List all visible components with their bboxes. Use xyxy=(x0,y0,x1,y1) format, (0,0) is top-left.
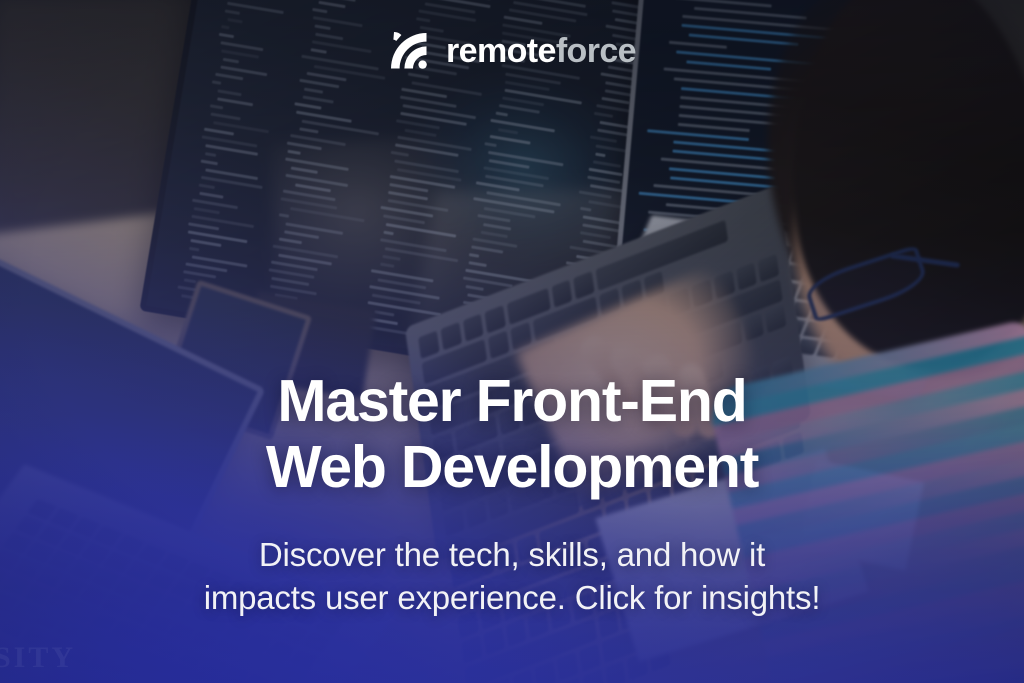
subheadline-line-1: Discover the tech, skills, and how it xyxy=(0,534,1024,577)
headline-line-1: Master Front-End xyxy=(277,368,746,434)
subheadline: Discover the tech, skills, and how it im… xyxy=(0,534,1024,620)
brand-wordmark: remoteforce xyxy=(446,34,636,68)
brand-name-primary: remote xyxy=(446,32,556,70)
brand-logo[interactable]: remoteforce xyxy=(0,30,1024,72)
signal-arcs-icon xyxy=(388,30,432,72)
subheadline-line-2: impacts user experience. Click for insig… xyxy=(0,577,1024,620)
headline: Master Front-End Web Development xyxy=(0,372,1024,497)
brand-name-secondary: force xyxy=(556,32,636,70)
headline-line-2: Web Development xyxy=(0,438,1024,496)
promo-banner: SITY remoteforce Master Front-End Web De… xyxy=(0,0,1024,683)
banner-content: remoteforce Master Front-End Web Develop… xyxy=(0,0,1024,683)
